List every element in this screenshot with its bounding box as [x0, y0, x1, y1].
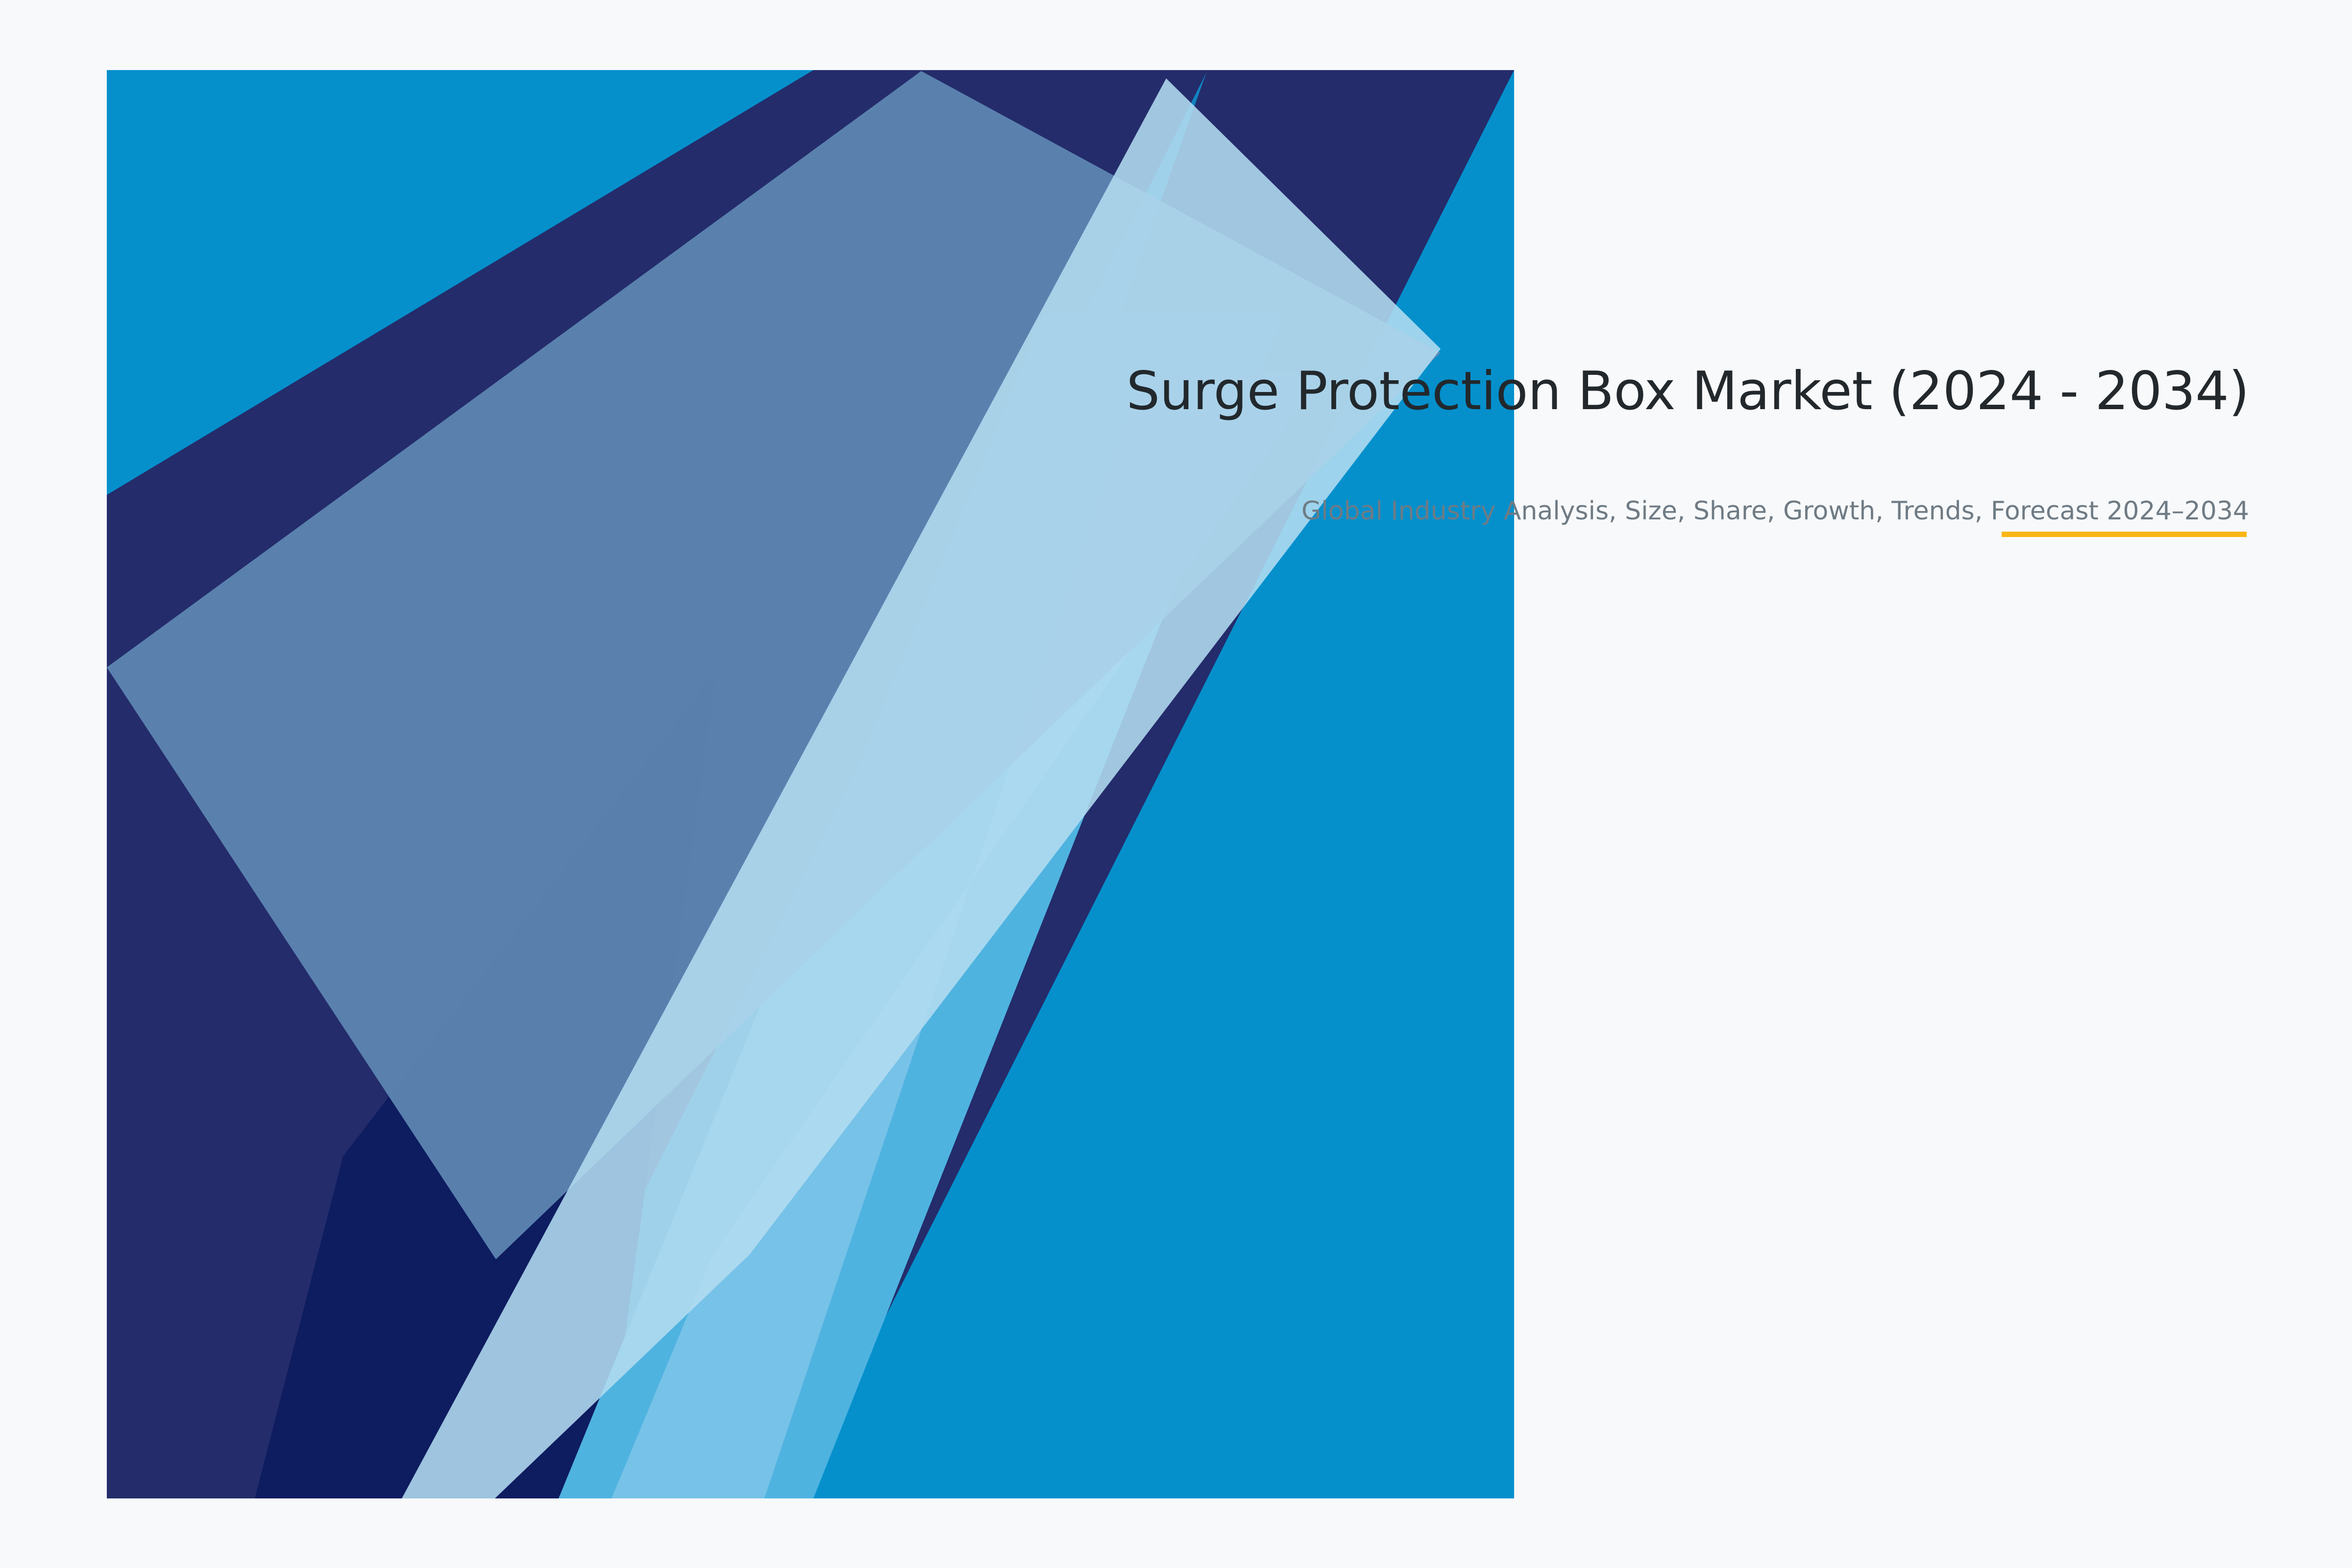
shape-sky-blue-overlay: [612, 372, 1323, 1498]
shape-cyan-field: [107, 70, 1514, 1498]
page-subtitle: Global Industry Analysis, Size, Share, G…: [735, 425, 2249, 530]
abstract-geometric-artwork: [0, 0, 2352, 1568]
shape-cyan-sliver: [490, 73, 1206, 1498]
title-wrapper: Surge Protection Box Market (2024 - 2034…: [735, 358, 2249, 425]
title-block: Surge Protection Box Market (2024 - 2034…: [735, 358, 2249, 530]
cover-slide: Surge Protection Box Market (2024 - 2034…: [0, 0, 2352, 1568]
title-accent-underline: [2002, 532, 2247, 537]
page-title: Surge Protection Box Market (2024 - 2034…: [735, 358, 2249, 425]
shape-deep-navy-spear: [255, 670, 716, 1498]
shape-pale-blue-panel: [402, 78, 1441, 1498]
shape-navy-wedge: [107, 70, 1514, 1498]
shape-steel-blue-panel: [107, 71, 1441, 1259]
